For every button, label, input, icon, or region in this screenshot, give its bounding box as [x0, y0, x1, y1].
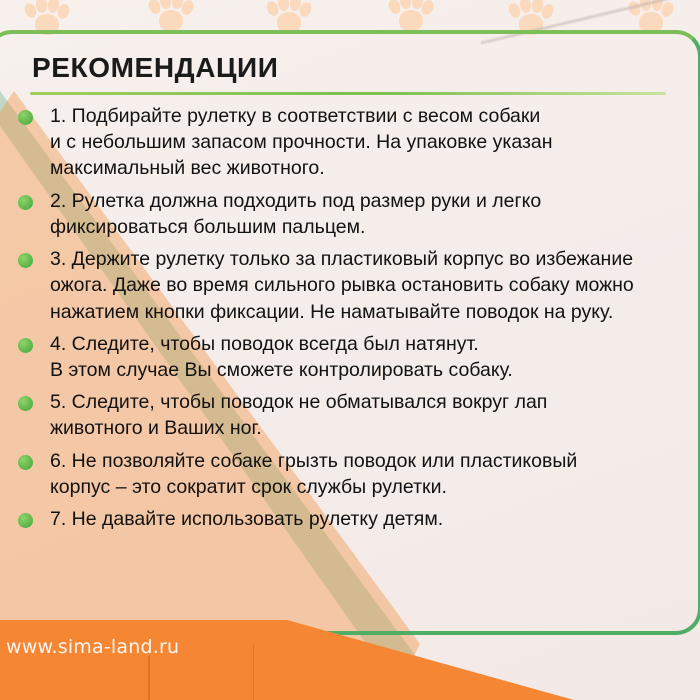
list-item-text: 6. Не позволяйте собаке грызть поводок и… [50, 448, 674, 500]
bullet-dot-icon [18, 338, 33, 353]
footer-fold-line [148, 656, 150, 700]
watermark-url: www.sima-land.ru [6, 636, 179, 658]
list-item-text: 5. Следите, чтобы поводок не обматывался… [50, 389, 674, 441]
bullet-dot-icon [18, 396, 33, 411]
list-item: 4. Следите, чтобы поводок всегда был нат… [14, 331, 674, 383]
text-line: 4. Следите, чтобы поводок всегда был нат… [50, 331, 674, 357]
package-label-image: РЕКОМЕНДАЦИИ 1. Подбирайте рулетку в соо… [0, 0, 700, 700]
list-item-text: 2. Рулетка должна подходить под размер р… [50, 188, 674, 240]
text-line: максимальный вес животного. [50, 155, 674, 181]
recommendations-list: 1. Подбирайте рулетку в соответствии с в… [14, 103, 682, 532]
text-line: нажатием кнопки фиксации. Не наматывайте… [50, 299, 674, 325]
list-item: 5. Следите, чтобы поводок не обматывался… [14, 389, 674, 441]
text-line: корпус – это сократит срок службы рулетк… [50, 474, 674, 500]
bullet-dot-icon [18, 513, 33, 528]
text-line: 6. Не позволяйте собаке грызть поводок и… [50, 448, 674, 474]
text-line: фиксироваться большим пальцем. [50, 214, 674, 240]
list-item: 3. Держите рулетку только за пластиковый… [14, 246, 674, 325]
list-item: 2. Рулетка должна подходить под размер р… [14, 188, 674, 240]
list-item: 1. Подбирайте рулетку в соответствии с в… [14, 103, 674, 182]
list-item: 6. Не позволяйте собаке грызть поводок и… [14, 448, 674, 500]
paw-icon [266, 0, 312, 34]
text-line: 5. Следите, чтобы поводок не обматывался… [50, 389, 674, 415]
bullet-dot-icon [18, 253, 33, 268]
list-item-text: 3. Держите рулетку только за пластиковый… [50, 246, 674, 325]
list-item: 7. Не давайте использовать рулетку детям… [14, 506, 674, 532]
text-line: ожога. Даже во время сильного рывка оста… [50, 272, 674, 298]
text-line: 1. Подбирайте рулетку в соответствии с в… [50, 103, 674, 129]
paw-icon [388, 0, 434, 32]
recommendations-panel: РЕКОМЕНДАЦИИ 1. Подбирайте рулетку в соо… [0, 30, 700, 635]
bullet-dot-icon [18, 455, 33, 470]
text-line: и с небольшим запасом прочности. На упак… [50, 129, 674, 155]
text-line: 3. Держите рулетку только за пластиковый… [50, 246, 674, 272]
text-line: 2. Рулетка должна подходить под размер р… [50, 188, 674, 214]
bullet-dot-icon [18, 195, 33, 210]
list-item-text: 4. Следите, чтобы поводок всегда был нат… [50, 331, 674, 383]
text-line: В этом случае Вы сможете контролировать … [50, 357, 674, 383]
page-title: РЕКОМЕНДАЦИИ [32, 54, 682, 82]
text-line: 7. Не давайте использовать рулетку детям… [50, 506, 674, 532]
text-line: животного и Ваших ног. [50, 415, 674, 441]
footer-fold-line [253, 644, 254, 700]
paw-icon [148, 0, 194, 32]
list-item-text: 1. Подбирайте рулетку в соответствии с в… [50, 103, 674, 182]
bullet-dot-icon [18, 110, 33, 125]
title-divider [30, 92, 666, 95]
list-item-text: 7. Не давайте использовать рулетку детям… [50, 506, 674, 532]
